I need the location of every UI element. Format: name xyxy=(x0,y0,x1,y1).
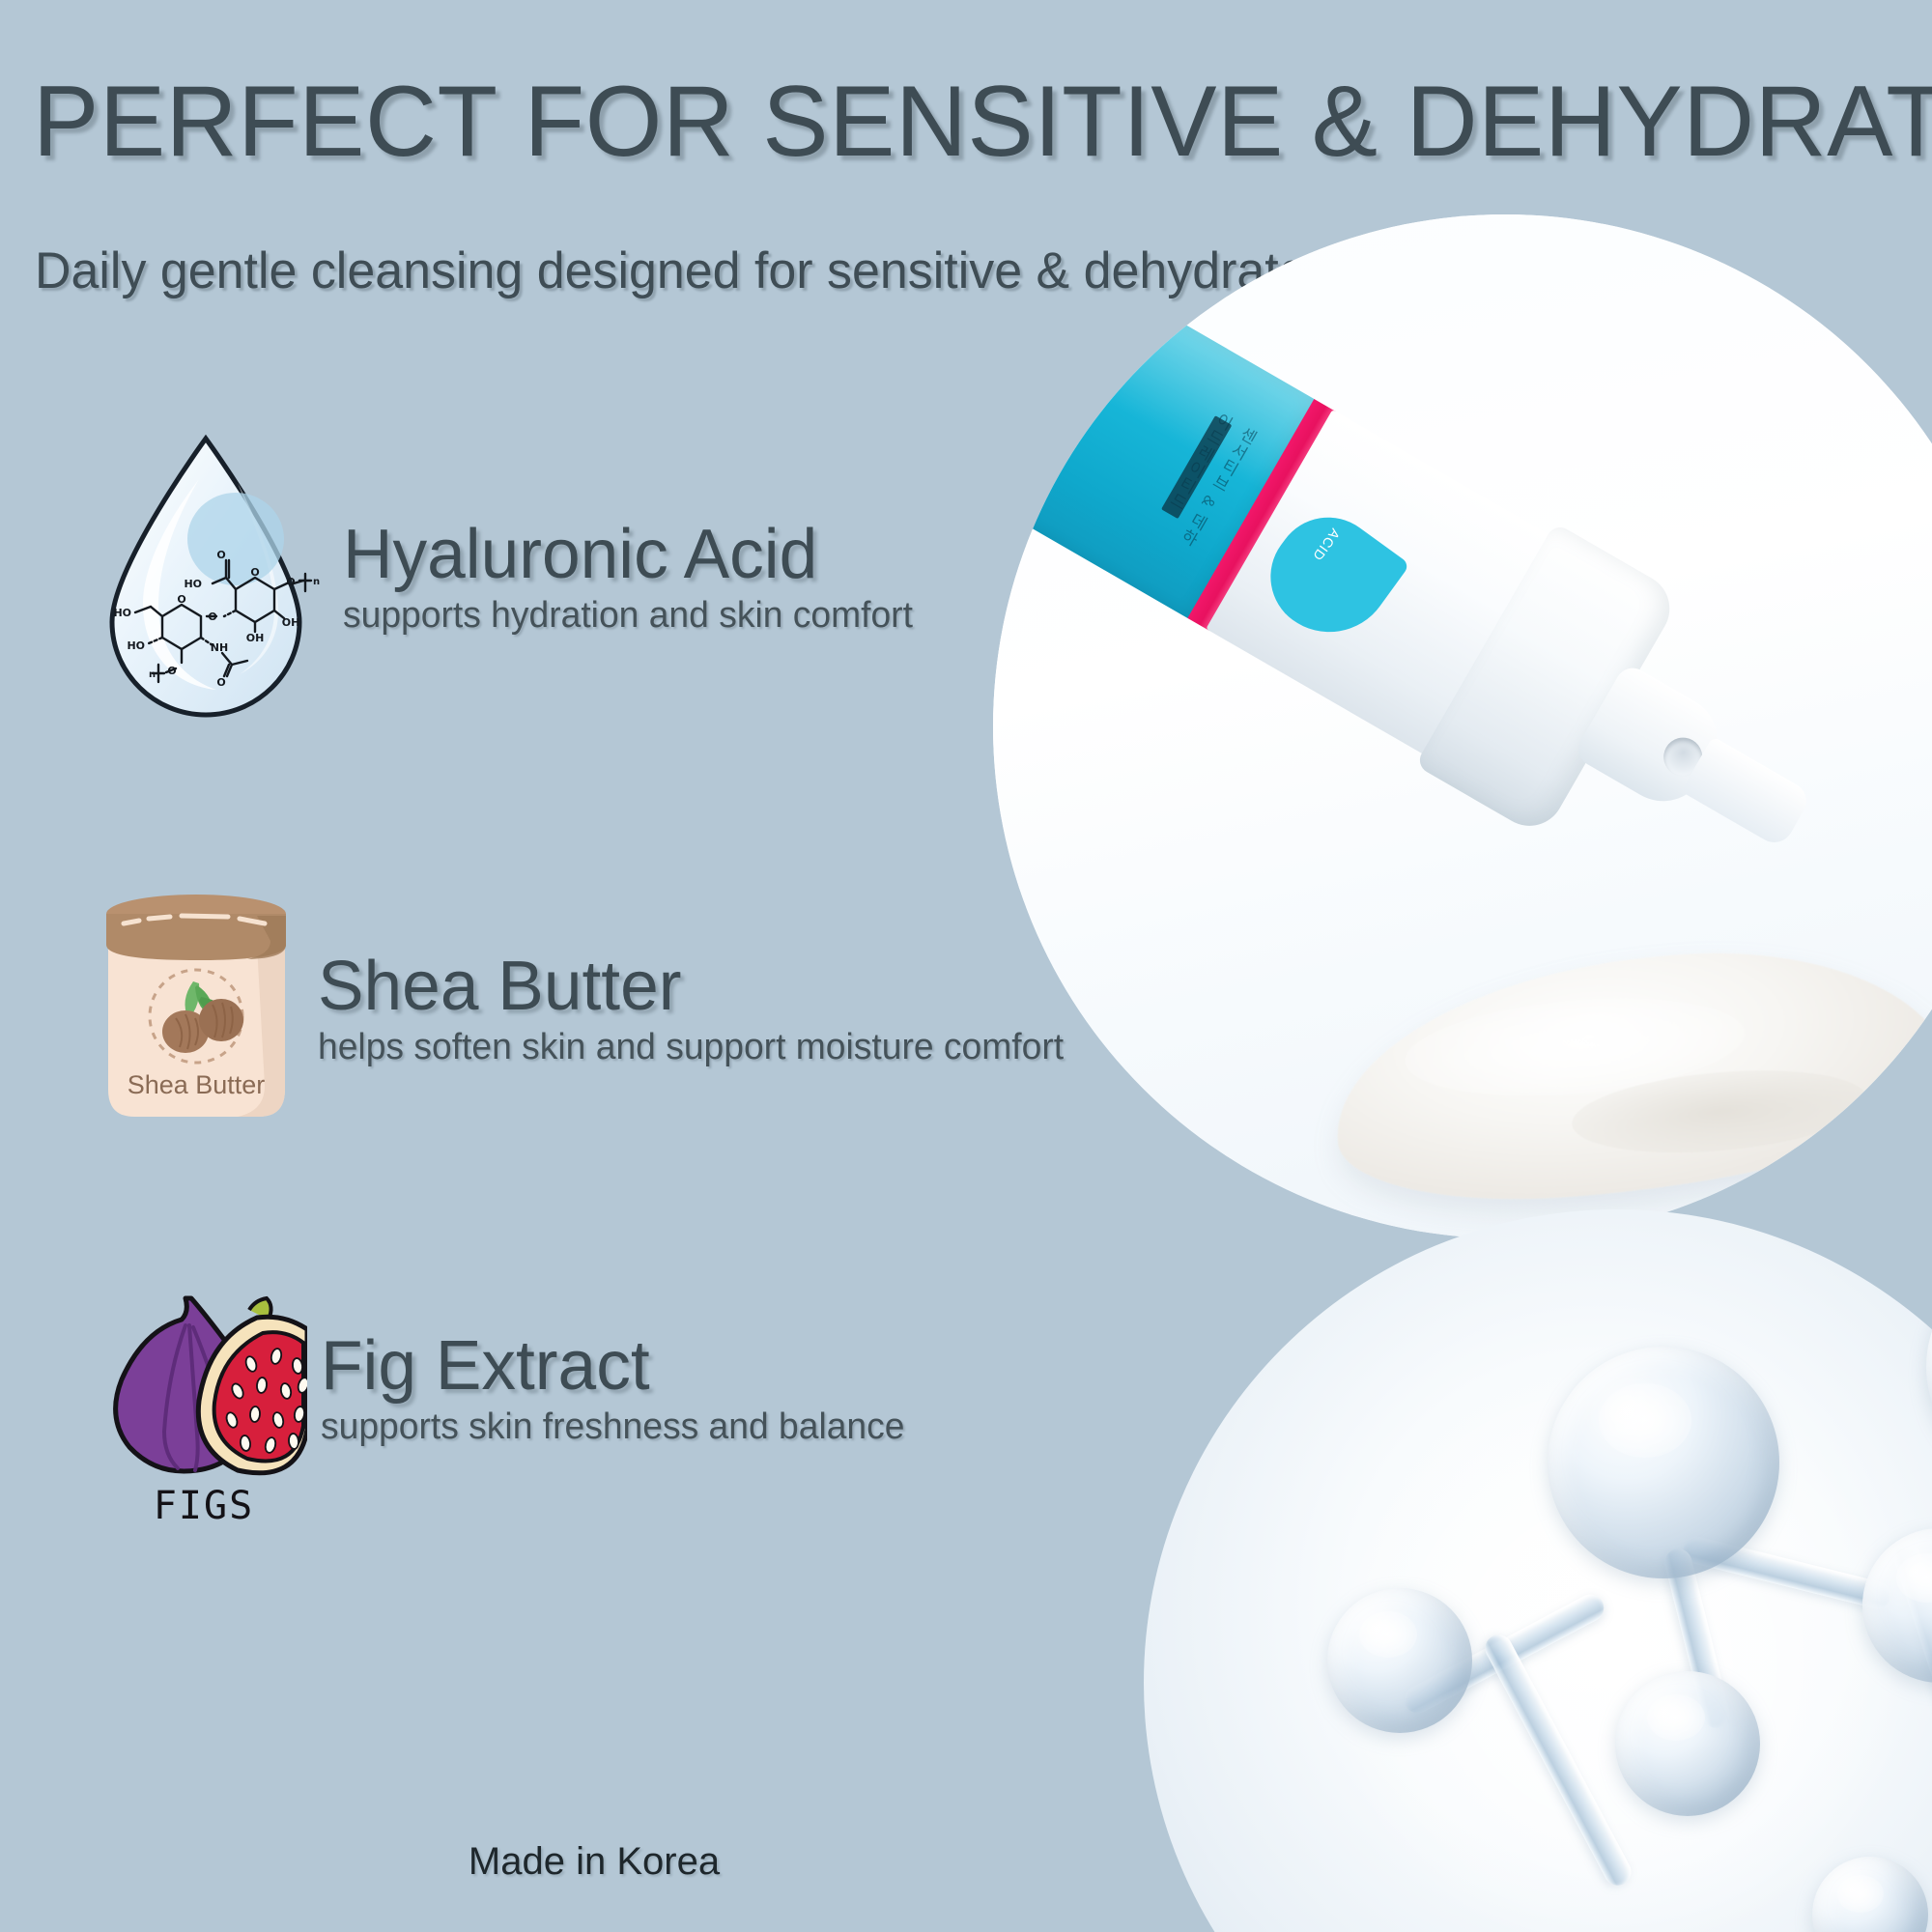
svg-text:O: O xyxy=(216,676,225,689)
svg-text:O: O xyxy=(167,665,176,677)
ingredient-name: Shea Butter xyxy=(318,952,1071,1021)
ingredient-text-block: Fig Extract supports skin freshness and … xyxy=(321,1331,917,1448)
ingredient-text-block: Shea Butter helps soften skin and suppor… xyxy=(318,952,1079,1068)
ingredient-name: Hyaluronic Acid xyxy=(343,520,919,589)
molecule-photo-circle xyxy=(1144,1209,1932,1932)
molecule-sphere xyxy=(1615,1671,1760,1816)
ingredient-row-fig-extract: FIGS Fig Extract supports skin freshness… xyxy=(104,1285,917,1526)
tube-brand-logo-icon xyxy=(1009,327,1089,407)
svg-text:n: n xyxy=(149,669,156,680)
made-in-korea-label: Made in Korea xyxy=(0,1840,1188,1884)
svg-text:HO: HO xyxy=(127,639,145,652)
svg-text:OH: OH xyxy=(246,632,265,644)
svg-text:n: n xyxy=(313,577,320,587)
svg-text:OH: OH xyxy=(282,616,300,629)
svg-text:O: O xyxy=(208,611,216,623)
ingredient-row-hyaluronic-acid: O HO O O n OH OH O O HO HO O n NH O Hyal… xyxy=(93,433,924,723)
water-droplet-icon: O HO O O n OH OH O O HO HO O n NH O xyxy=(93,433,320,723)
jar-label-text: Shea Butter xyxy=(128,1070,266,1099)
ingredient-description: supports hydration and skin comfort xyxy=(343,595,913,637)
molecule-sphere xyxy=(1548,1347,1779,1578)
fig-label-text: FIGS xyxy=(154,1484,254,1526)
ingredient-row-shea-butter: Shea Butter Shea Butter helps soften ski… xyxy=(93,889,1079,1130)
ingredient-text-block: Hyaluronic Acid supports hydration and s… xyxy=(343,520,924,637)
svg-text:NH: NH xyxy=(211,641,228,654)
tube-label-text: 센서티브 & 데하이드레이티드 xyxy=(1081,371,1263,559)
shea-butter-jar-icon: Shea Butter xyxy=(93,889,300,1130)
figs-icon: FIGS xyxy=(104,1285,307,1526)
svg-text:O: O xyxy=(216,549,225,561)
molecule-sphere xyxy=(1926,1256,1932,1478)
ingredient-description: helps soften skin and support moisture c… xyxy=(318,1027,1064,1068)
svg-text:O: O xyxy=(177,593,185,606)
ingredient-name: Fig Extract xyxy=(321,1331,911,1401)
product-photo-circle: 센서티브 & 데하이드레이티드 ACID xyxy=(993,214,1932,1238)
ingredient-description: supports skin freshness and balance xyxy=(321,1406,904,1448)
molecule-sphere xyxy=(1327,1588,1472,1733)
svg-text:HO: HO xyxy=(113,607,131,619)
svg-text:HO: HO xyxy=(184,578,202,590)
page-title: PERFECT FOR SENSITIVE & DEHYDRATED SKIN xyxy=(33,71,1904,172)
svg-text:O: O xyxy=(250,566,259,579)
svg-text:O: O xyxy=(286,576,295,588)
